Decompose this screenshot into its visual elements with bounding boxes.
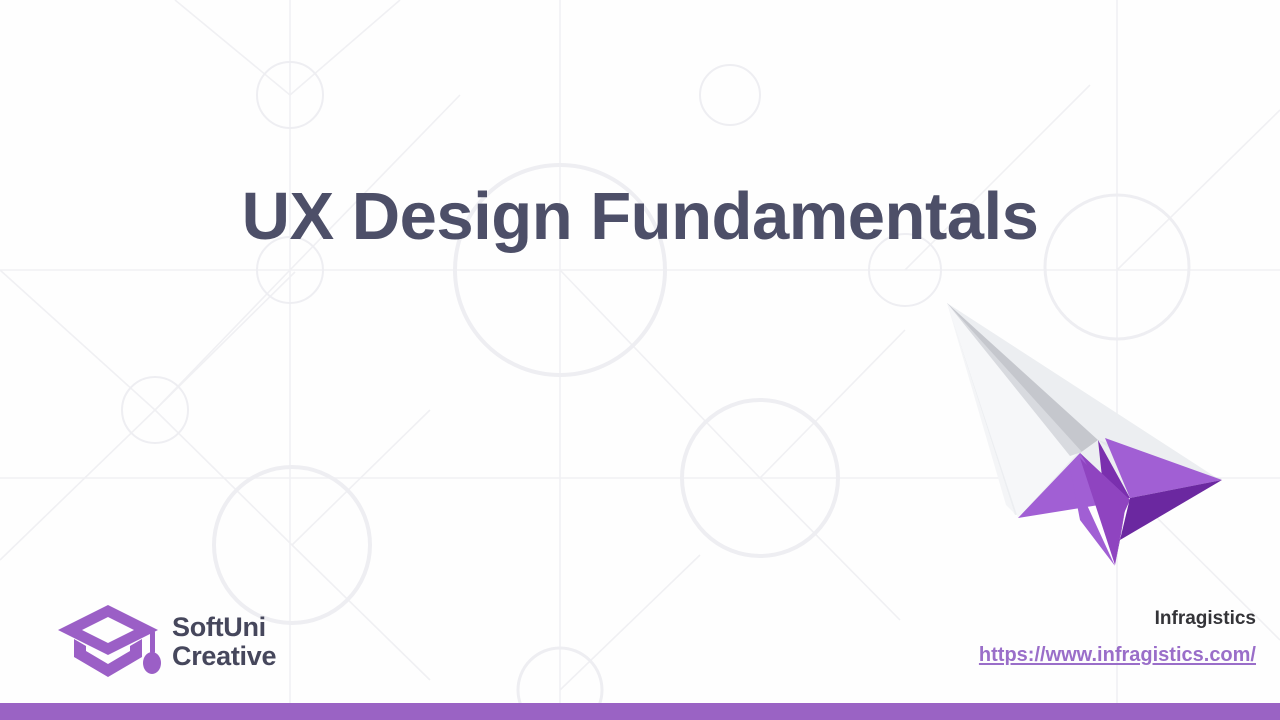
credit-company-name: Infragistics bbox=[979, 608, 1256, 631]
softuni-wordmark: SoftUni Creative bbox=[172, 613, 276, 671]
presentation-slide: UX Design Fundamentals bbox=[0, 0, 1280, 720]
softuni-creative-logo: SoftUni Creative bbox=[58, 603, 276, 681]
softuni-wordmark-line2: Creative bbox=[172, 642, 276, 671]
page-title: UX Design Fundamentals bbox=[0, 178, 1280, 255]
graduation-cap-icon bbox=[58, 603, 166, 681]
credit-block: Infragistics https://www.infragistics.co… bbox=[979, 608, 1256, 667]
credit-website-link[interactable]: https://www.infragistics.com/ bbox=[979, 644, 1256, 667]
softuni-wordmark-line1: SoftUni bbox=[172, 613, 276, 642]
paper-plane-icon bbox=[930, 290, 1240, 580]
bottom-accent-bar bbox=[0, 703, 1280, 720]
